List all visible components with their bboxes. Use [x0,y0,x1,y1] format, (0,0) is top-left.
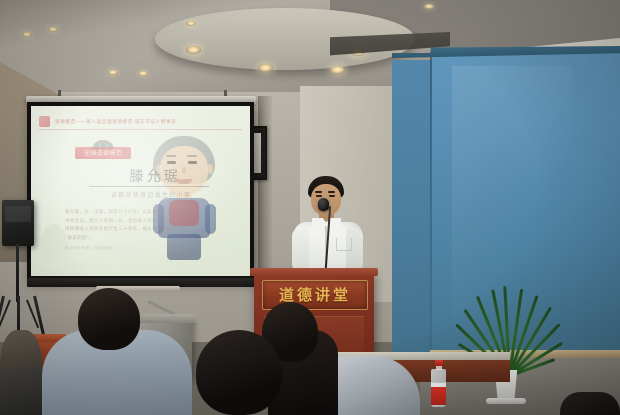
pa-speaker-grille [5,206,31,222]
badge-ribbon-text: 全国道德模范 [75,148,131,157]
toon-brow [166,155,176,157]
downlight-icon [22,32,32,37]
audience-member-head [78,288,140,350]
projected-slide: 道德模范——第八届全国道德模范 诚实守信人物事迹 全国道德模范 [31,106,250,276]
bottle-label-red [431,387,446,405]
downlight-icon [108,70,118,75]
podium-top [250,268,378,276]
slide-body-line: 滕允琚，女，汉族，现年八十六岁，山东省临沂市蒙阴县人， [65,210,207,215]
presenter-eye [329,195,335,197]
slide-logo-icon [39,116,50,127]
blind-panel-left [392,60,432,362]
podium-plaque-text: 道德讲堂 [279,288,351,303]
downlight-icon [138,71,148,76]
water-bottle [431,360,446,407]
plant-saucer [486,398,526,404]
photo-scene: 道德模范——第八届全国道德模范 诚实守信人物事迹 全国道德模范 [0,0,620,415]
toon-eye [167,161,176,164]
bottle-cap [435,360,443,366]
slide-footer-note: 图文资料来源：中国文明网 [65,246,113,251]
pa-speaker-pole [16,244,19,302]
presenter-sleeve-left [292,228,309,272]
slide-header: 道德模范——第八届全国道德模范 诚实守信人物事迹 [39,114,242,130]
toon-brow [187,155,197,157]
presenter-eye [316,195,322,197]
audience-member-head [560,392,620,415]
downlight-icon [258,64,273,72]
downlight-icon [186,46,201,54]
presenter-shirt-pocket [336,238,352,251]
downlight-icon [48,27,58,32]
projection-screen: 道德模范——第八届全国道德模范 诚实守信人物事迹 全国道德模范 [27,102,254,280]
slide-body-line: 用微薄收入资助贫困学生三十余名，被乡亲们亲切地称为 [65,227,207,232]
downlight-icon [424,4,434,9]
slide-header-text: 道德模范——第八届全国道德模范 诚实守信人物事迹 [55,119,176,125]
audience-member-head [196,330,282,415]
downlight-icon [186,21,196,26]
presenter-brow [328,191,335,193]
presenter-brow [315,191,322,193]
slide-person-name: 滕允琚 [107,166,203,186]
slide-subtitle: 讲都是我身边发生的小事 [93,190,209,199]
slide-body-line: "最美奶奶"。 [65,236,207,241]
blind-seam [430,52,432,362]
slide-watermark [41,224,67,264]
toon-eye [188,161,197,164]
slide-body-text: 滕允琚，女，汉族，现年八十六岁，山东省临沂市蒙阴县人， 中共党员。她几十年如一日… [65,210,207,244]
slide-award-badge: 全国道德模范 [75,140,131,162]
grey-planter-rim [136,314,196,323]
slide-title-rule [89,186,209,187]
microphone-icon [318,198,329,211]
downlight-icon [330,66,345,74]
blind-sheen [452,66,572,356]
slide-body-line: 中共党员。她几十年如一日，坚持助人为乐、扶危济困， [65,219,207,224]
